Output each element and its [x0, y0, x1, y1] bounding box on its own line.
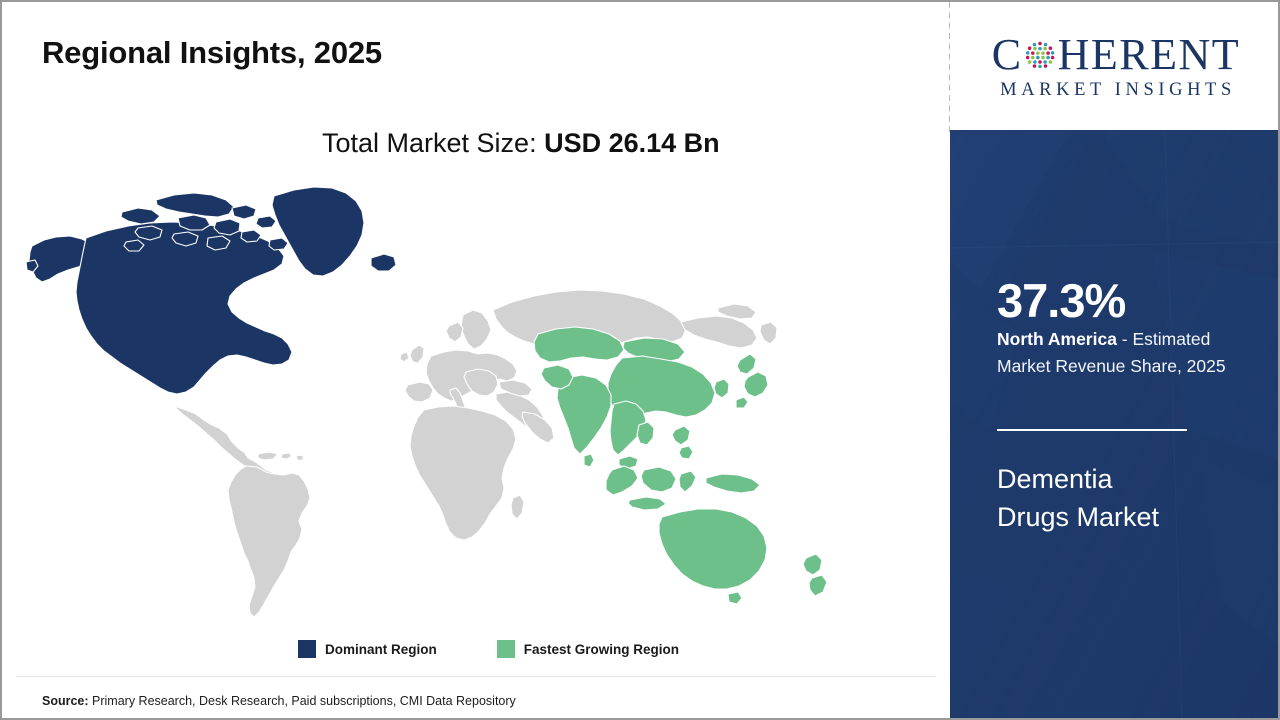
market-title: Dementia Drugs Market [997, 460, 1259, 537]
revenue-share-description: North America - Estimated Market Revenue… [997, 326, 1259, 379]
legend-item-fastest-growing: Fastest Growing Region [497, 640, 679, 658]
source-label: Source: [42, 694, 89, 708]
market-title-line2: Drugs Market [997, 498, 1259, 536]
logo-letter-c: C [992, 33, 1023, 77]
total-market-size: Total Market Size: USD 26.14 Bn [322, 128, 720, 159]
market-size-value: USD 26.14 Bn [544, 128, 720, 158]
dotted-globe-icon [1023, 38, 1057, 72]
legend-label-fastest-growing: Fastest Growing Region [524, 642, 679, 657]
source-divider [16, 676, 936, 677]
page-title: Regional Insights, 2025 [42, 35, 382, 71]
logo-wordmark: C [992, 32, 1240, 78]
left-content-pane: Regional Insights, 2025 Total Market Siz… [2, 2, 950, 720]
stat-divider [997, 429, 1187, 431]
legend-item-dominant: Dominant Region [298, 640, 437, 658]
market-title-line1: Dementia [997, 460, 1259, 498]
infographic-page: Regional Insights, 2025 Total Market Siz… [0, 0, 1280, 720]
region-name: North America [997, 329, 1117, 349]
logo-subtitle: MARKET INSIGHTS [996, 80, 1236, 101]
stat-panel: 37.3% North America - Estimated Market R… [950, 130, 1280, 720]
legend-label-dominant: Dominant Region [325, 642, 437, 657]
revenue-share-percent: 37.3% [997, 277, 1125, 324]
fastest-growing-region-asia-pacific [534, 327, 827, 604]
source-text: Primary Research, Desk Research, Paid su… [89, 694, 516, 708]
world-map [26, 182, 886, 622]
brand-logo: C [950, 2, 1280, 130]
right-panel: C [950, 2, 1280, 720]
fastest-growing-swatch-icon [497, 640, 515, 658]
source-note: Source: Primary Research, Desk Research,… [42, 694, 516, 708]
dominant-swatch-icon [298, 640, 316, 658]
dominant-region-north-america [26, 187, 396, 394]
map-legend: Dominant Region Fastest Growing Region [298, 640, 679, 658]
logo-word-herent: HERENT [1058, 33, 1241, 77]
market-size-label: Total Market Size: [322, 128, 537, 158]
stat-content: 37.3% North America - Estimated Market R… [997, 130, 1247, 720]
